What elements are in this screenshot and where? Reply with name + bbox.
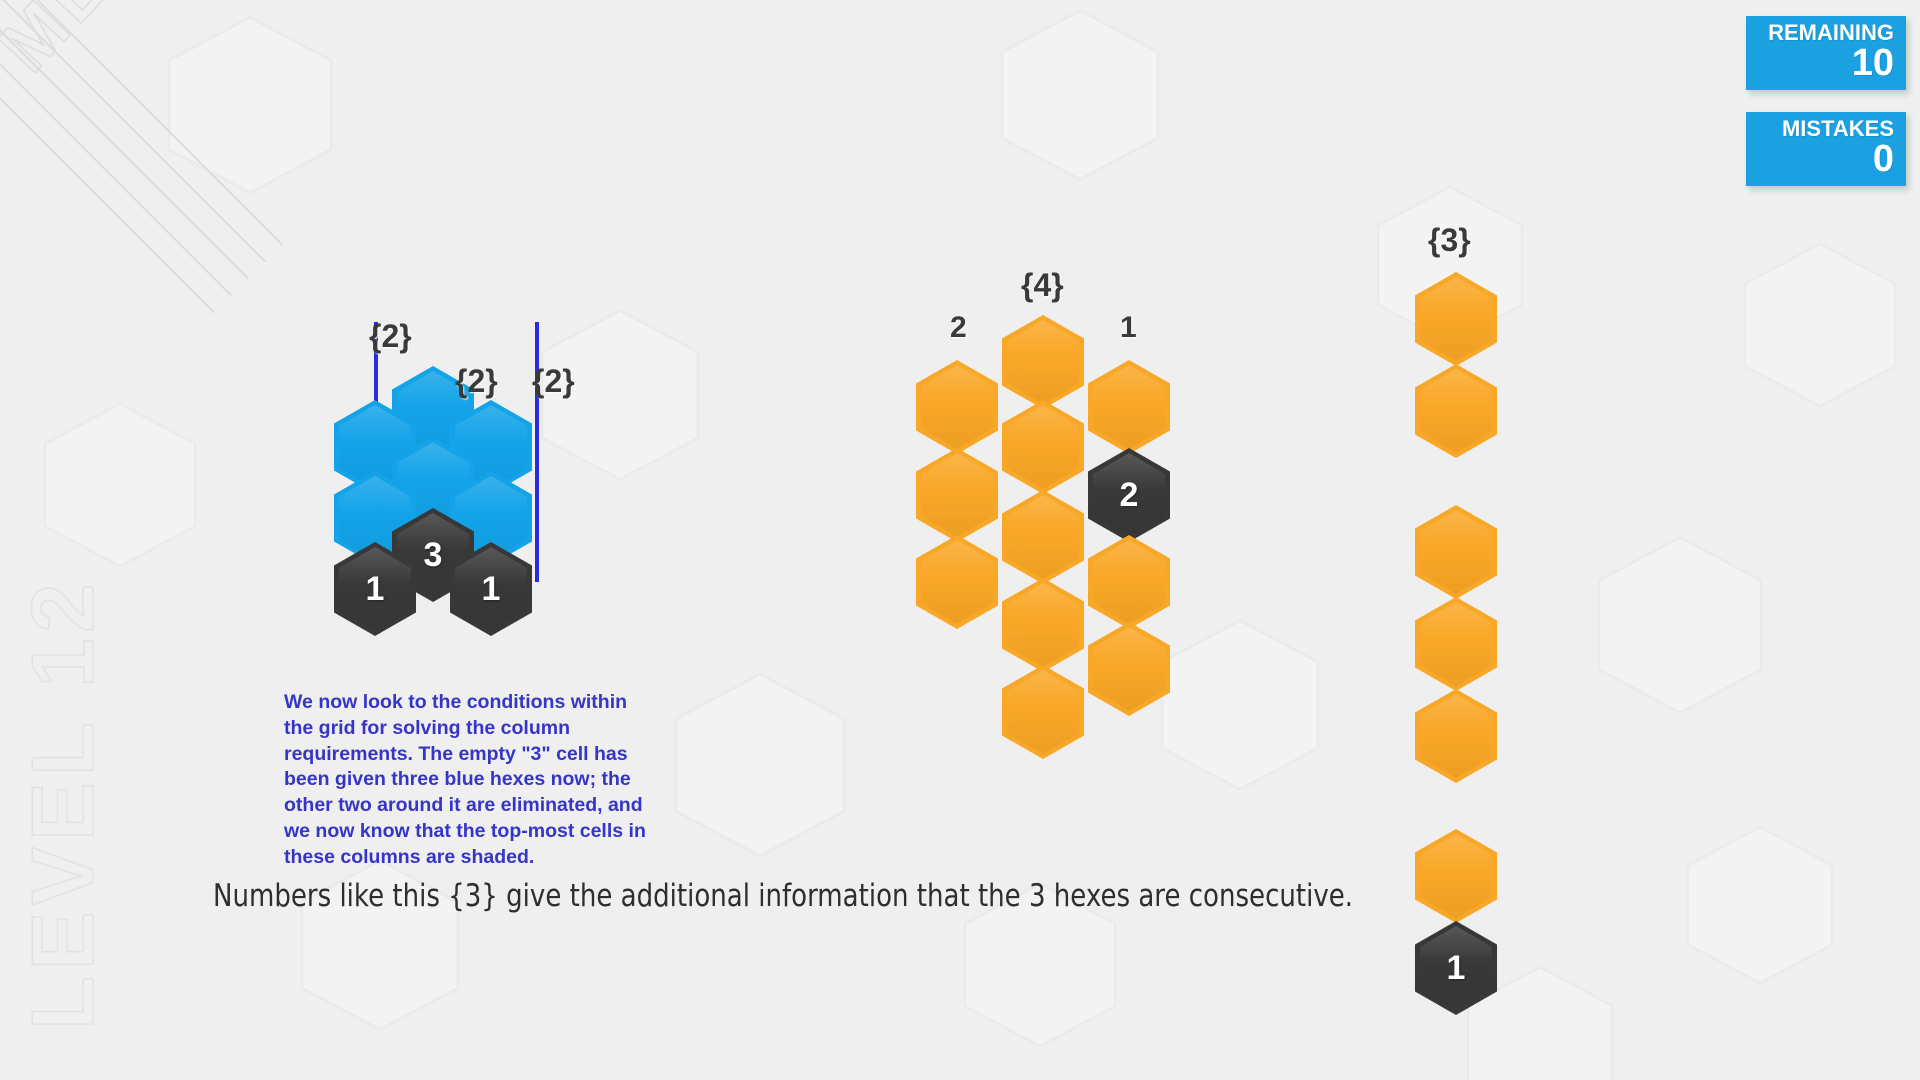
middle-hex-8[interactable] (1088, 535, 1170, 629)
left-guide-line-1 (535, 322, 539, 582)
right-hex-2[interactable] (1415, 505, 1497, 599)
middle-hex-4[interactable] (916, 448, 998, 542)
middle-hex-5[interactable]: 2 (1088, 448, 1170, 542)
middle-hex-2[interactable] (1088, 360, 1170, 454)
middle-hex-7[interactable] (916, 535, 998, 629)
middle-hex-11[interactable] (1002, 665, 1084, 759)
right-hex-1[interactable] (1415, 364, 1497, 458)
left-hex-label-8: 1 (482, 570, 501, 609)
left-clue-1: {2} (455, 363, 498, 400)
left-clue-0: {2} (369, 318, 412, 355)
right-clue-0: {3} (1428, 222, 1471, 259)
left-hex-label-7: 1 (366, 570, 385, 609)
hex-board: 311{2}{2}{2} 2{4}21 1{3} (0, 0, 1920, 1080)
right-hex-0[interactable] (1415, 272, 1497, 366)
left-hex-label-6: 3 (424, 536, 443, 575)
middle-clue-2: 1 (1120, 311, 1137, 345)
tutorial-caption: Numbers like this {3} give the additiona… (213, 878, 1353, 914)
middle-hex-3[interactable] (1002, 400, 1084, 494)
right-hex-label-6: 1 (1447, 949, 1466, 988)
right-hex-4[interactable] (1415, 689, 1497, 783)
middle-hex-1[interactable] (916, 360, 998, 454)
right-hex-6[interactable]: 1 (1415, 921, 1497, 1015)
annotation-text: We now look to the conditions within the… (284, 690, 656, 871)
middle-clue-1: 2 (950, 311, 967, 345)
right-hex-3[interactable] (1415, 597, 1497, 691)
left-clue-2: {2} (532, 363, 575, 400)
middle-hex-9[interactable] (1002, 578, 1084, 672)
middle-hex-0[interactable] (1002, 315, 1084, 409)
middle-hex-label-5: 2 (1120, 476, 1139, 515)
middle-hex-10[interactable] (1088, 622, 1170, 716)
middle-clue-0: {4} (1021, 267, 1064, 304)
middle-hex-6[interactable] (1002, 490, 1084, 584)
right-hex-5[interactable] (1415, 829, 1497, 923)
